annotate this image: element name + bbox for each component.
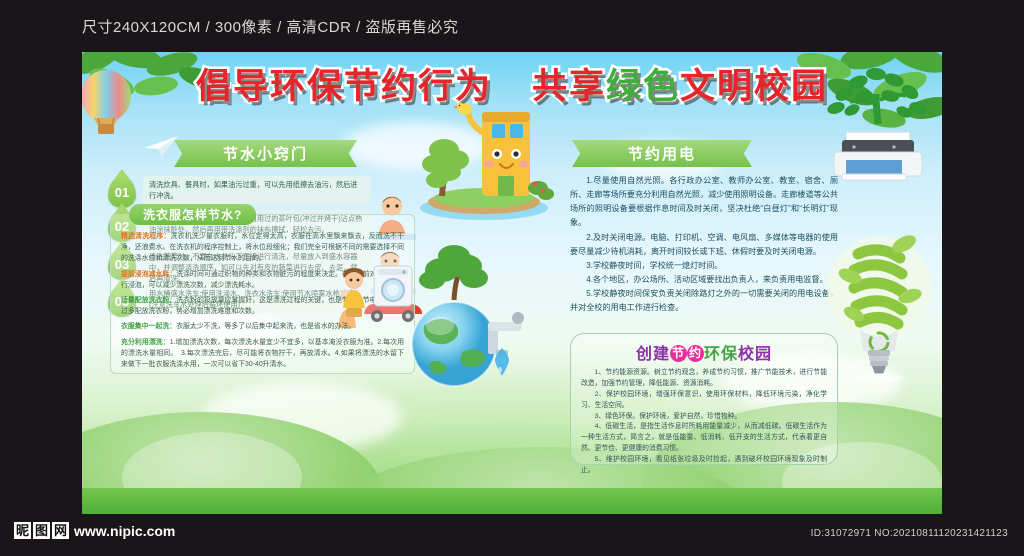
screenshot-root: 尺寸240X120CM / 300像素 / 高清CDR / 盗版再售必究 (0, 0, 1024, 556)
power-saving-paragraph: 2.及时关闭电源。电脑、打印机、空调、电风扇、多媒体等电器的使用要尽量减少待机消… (570, 231, 838, 259)
green-campus-item: 4、低碳生活，是指生活作息时所耗用能量减少，从而减低碳。低碳生活作为一种生活方式… (581, 422, 827, 455)
green-campus-title: 创建节约环保校园 (581, 340, 827, 364)
green-campus-circle-1: 节 (670, 345, 687, 362)
green-campus-circle-2: 约 (687, 345, 704, 362)
green-campus-title-part3: 校园 (738, 346, 772, 363)
green-campus-item: 5、维护校园环境，看见纸张垃圾及时捡起，遇到破坏校园环境现象及时制止。 (581, 455, 827, 477)
laundry-item-key: 衣服集中一起洗： (121, 323, 176, 330)
green-campus-item: 2、保护校园环境，增强环保意识，使用环保材料，降低环境污染，净化学习、生活空间。 (581, 390, 827, 412)
site-url[interactable]: www.nipic.com (74, 523, 175, 539)
banner-water-saving: 节水小窍门 (188, 140, 343, 167)
power-saving-paragraph: 3.学校静夜时间，学校统一熄灯时间。 (570, 259, 838, 273)
title-right-post: 文明校园 (680, 67, 828, 107)
main-title-right: 共享绿色文明校园 (532, 70, 828, 105)
laundry-panel-pill: 洗衣服怎样节水? (129, 204, 256, 225)
paper-plane-icon (142, 132, 182, 158)
tip-text: 清洗炊具、餐具时，如果油污过重，可以先用纸擦去油污，然后进行冲洗。 (143, 176, 370, 204)
green-campus-title-part1: 创建 (636, 346, 670, 363)
poster-canvas: 倡导环保节约行为 共享绿色文明校园 节水小窍门 节约用电 01 清洗炊具、餐具时… (82, 52, 942, 514)
tip-number: 01 (115, 185, 129, 200)
earth-water-tap-illustration (392, 244, 542, 404)
grass-strip (82, 488, 942, 514)
asset-id-text: ID:31072971 NO:20210811120231421123 (811, 528, 1008, 539)
power-saving-paragraph: 1.尽量使用自然光照。各行政办公室、教师办公室、教室、宿舍、厕所、走廊等场所要充… (570, 174, 838, 231)
green-campus-title-part2: 环保 (704, 346, 738, 363)
laundry-item-key: 充分利用漂洗： (121, 339, 170, 346)
green-campus-item: 1、节约能源资源。树立节约观念，养成节约习惯，推广节能技术，进行节能改造，加强节… (581, 368, 827, 390)
laundry-item: 精选清洗程序：洗衣机洗少量衣服时，水位定得太高，衣服在高水里飘来飘去，反而洗不干… (121, 231, 404, 265)
power-saving-text: 1.尽量使用自然光照。各行政办公室、教师办公室、教室、宿舍、厕所、走廊等场所要充… (570, 174, 838, 316)
girl-with-basket-icon (334, 268, 374, 318)
green-campus-item: 3、绿色环保。保护环境，爱护自然，珍惜物种。 (581, 412, 827, 423)
green-campus-panel: 创建节约环保校园 1、节约能源资源。树立节约观念，养成节约习惯，推广节能技术，进… (570, 333, 838, 465)
title-right-green: 绿色 (606, 67, 680, 107)
banner-power-saving: 节约用电 (586, 140, 738, 167)
laundry-item-key: 精选清洗程序： (121, 233, 171, 240)
spec-bar: 尺寸240X120CM / 300像素 / 高清CDR / 盗版再售必究 (0, 0, 1024, 52)
eco-light-bulb-illustration (824, 218, 934, 388)
logo-char: 图 (33, 522, 50, 539)
laundry-panel-title: 洗衣服怎样节水? (143, 206, 242, 223)
laundry-item-text: 衣服太少不洗，等多了以后集中起来洗，也是省水的办法。 (176, 323, 355, 330)
spec-text: 尺寸240X120CM / 300像素 / 高清CDR / 盗版再售必究 (82, 16, 458, 37)
banner-power-label: 节约用电 (628, 143, 696, 164)
tree-printer-illustration (818, 60, 938, 190)
power-saving-paragraph: 4.各个地区，办公场所、活动区域要找出负责人，来负责用电监督。 (570, 273, 838, 287)
logo-char: 昵 (14, 522, 31, 539)
power-saving-paragraph: 5.学校静夜时间保安负责关闭除路灯之外的一切需要关闭的用电设备，并对全校的用电工… (570, 287, 838, 315)
laundry-item: 衣服集中一起洗：衣服太少不洗，等多了以后集中起来洗，也是省水的办法。 (121, 321, 404, 332)
footer-bar: 昵 图 网 www.nipic.com ID:31072971 NO:20210… (0, 514, 1024, 556)
laundry-item-key: 提前浸泡减水耗： (121, 271, 176, 278)
site-logo[interactable]: 昵 图 网 www.nipic.com (14, 522, 175, 539)
laundry-item: 充分利用漂洗：1.增加漂洗次数，每次漂洗水量宜少不宜多，以基本淹没衣服为准。2.… (121, 337, 404, 371)
logo-characters: 昵 图 网 (14, 522, 69, 539)
eco-building-mascot-illustration (404, 92, 564, 222)
banner-water-label: 节水小窍门 (223, 143, 308, 164)
logo-char: 网 (52, 522, 69, 539)
laundry-item-key: 适量配放洗衣粉： (121, 297, 176, 304)
